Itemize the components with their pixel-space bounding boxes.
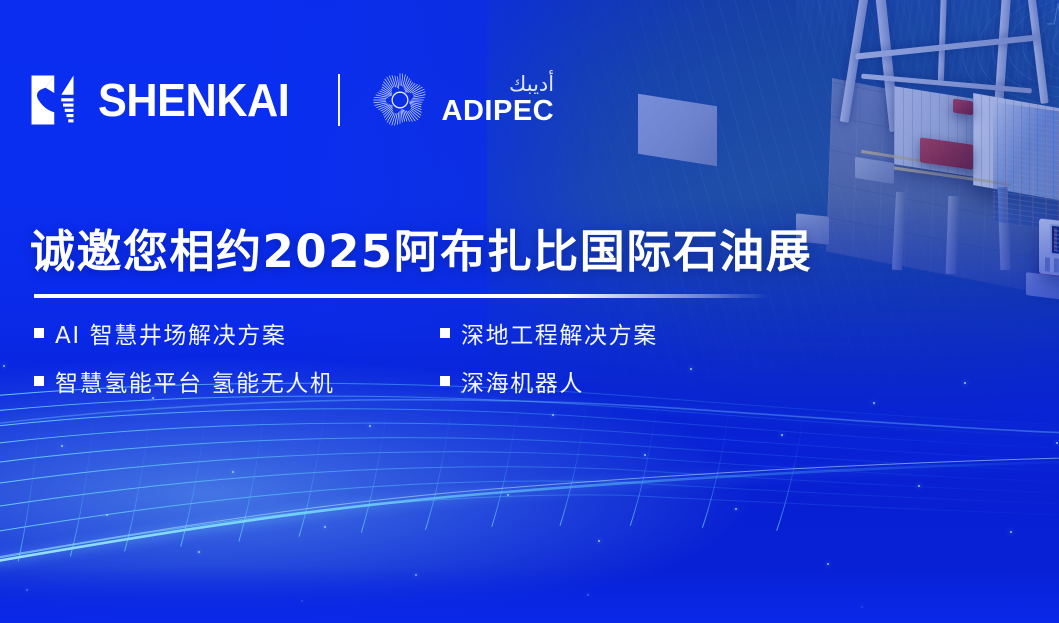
feature-item: 智慧氢能平台 氢能无人机	[34, 364, 440, 398]
page-title: 诚邀您相约2025阿布扎比国际石油展	[30, 227, 812, 277]
feature-item: 深地工程解决方案	[440, 316, 658, 350]
feature-row: 智慧氢能平台 氢能无人机 深海机器人	[34, 364, 734, 398]
square-bullet-icon	[34, 328, 44, 338]
adipec-radial-burst-icon	[370, 70, 430, 130]
adipec-arabic-name: أديبك	[509, 74, 554, 95]
feature-label: 智慧氢能平台 氢能无人机	[55, 364, 335, 398]
square-bullet-icon	[440, 328, 450, 338]
feature-label: 深海机器人	[461, 364, 584, 398]
feature-item: 深海机器人	[440, 364, 584, 398]
shenkai-sk-monogram-icon	[28, 72, 84, 128]
title-underline-rule	[34, 294, 769, 298]
banner-content: SHENKAI	[0, 0, 1059, 623]
adipec-latin-name: ADIPEC	[442, 97, 555, 126]
adipec-wordmark: أديبك ADIPEC	[442, 74, 555, 126]
adipec-logo[interactable]: أديبك ADIPEC	[370, 70, 555, 130]
feature-label: 深地工程解决方案	[461, 316, 658, 350]
logo-row: SHENKAI	[28, 62, 554, 138]
square-bullet-icon	[34, 376, 44, 386]
feature-list: AI 智慧井场解决方案 深地工程解决方案 智慧氢能平台 氢能无人机 深海机器人	[34, 316, 734, 412]
shenkai-wordmark: SHENKAI	[98, 77, 289, 123]
feature-label: AI 智慧井场解决方案	[55, 316, 286, 350]
shenkai-logo[interactable]: SHENKAI	[28, 72, 302, 128]
square-bullet-icon	[440, 376, 450, 386]
feature-item: AI 智慧井场解决方案	[34, 316, 440, 350]
logo-divider	[338, 74, 340, 126]
event-promo-banner: SHENKAI	[0, 0, 1059, 623]
feature-row: AI 智慧井场解决方案 深地工程解决方案	[34, 316, 734, 350]
